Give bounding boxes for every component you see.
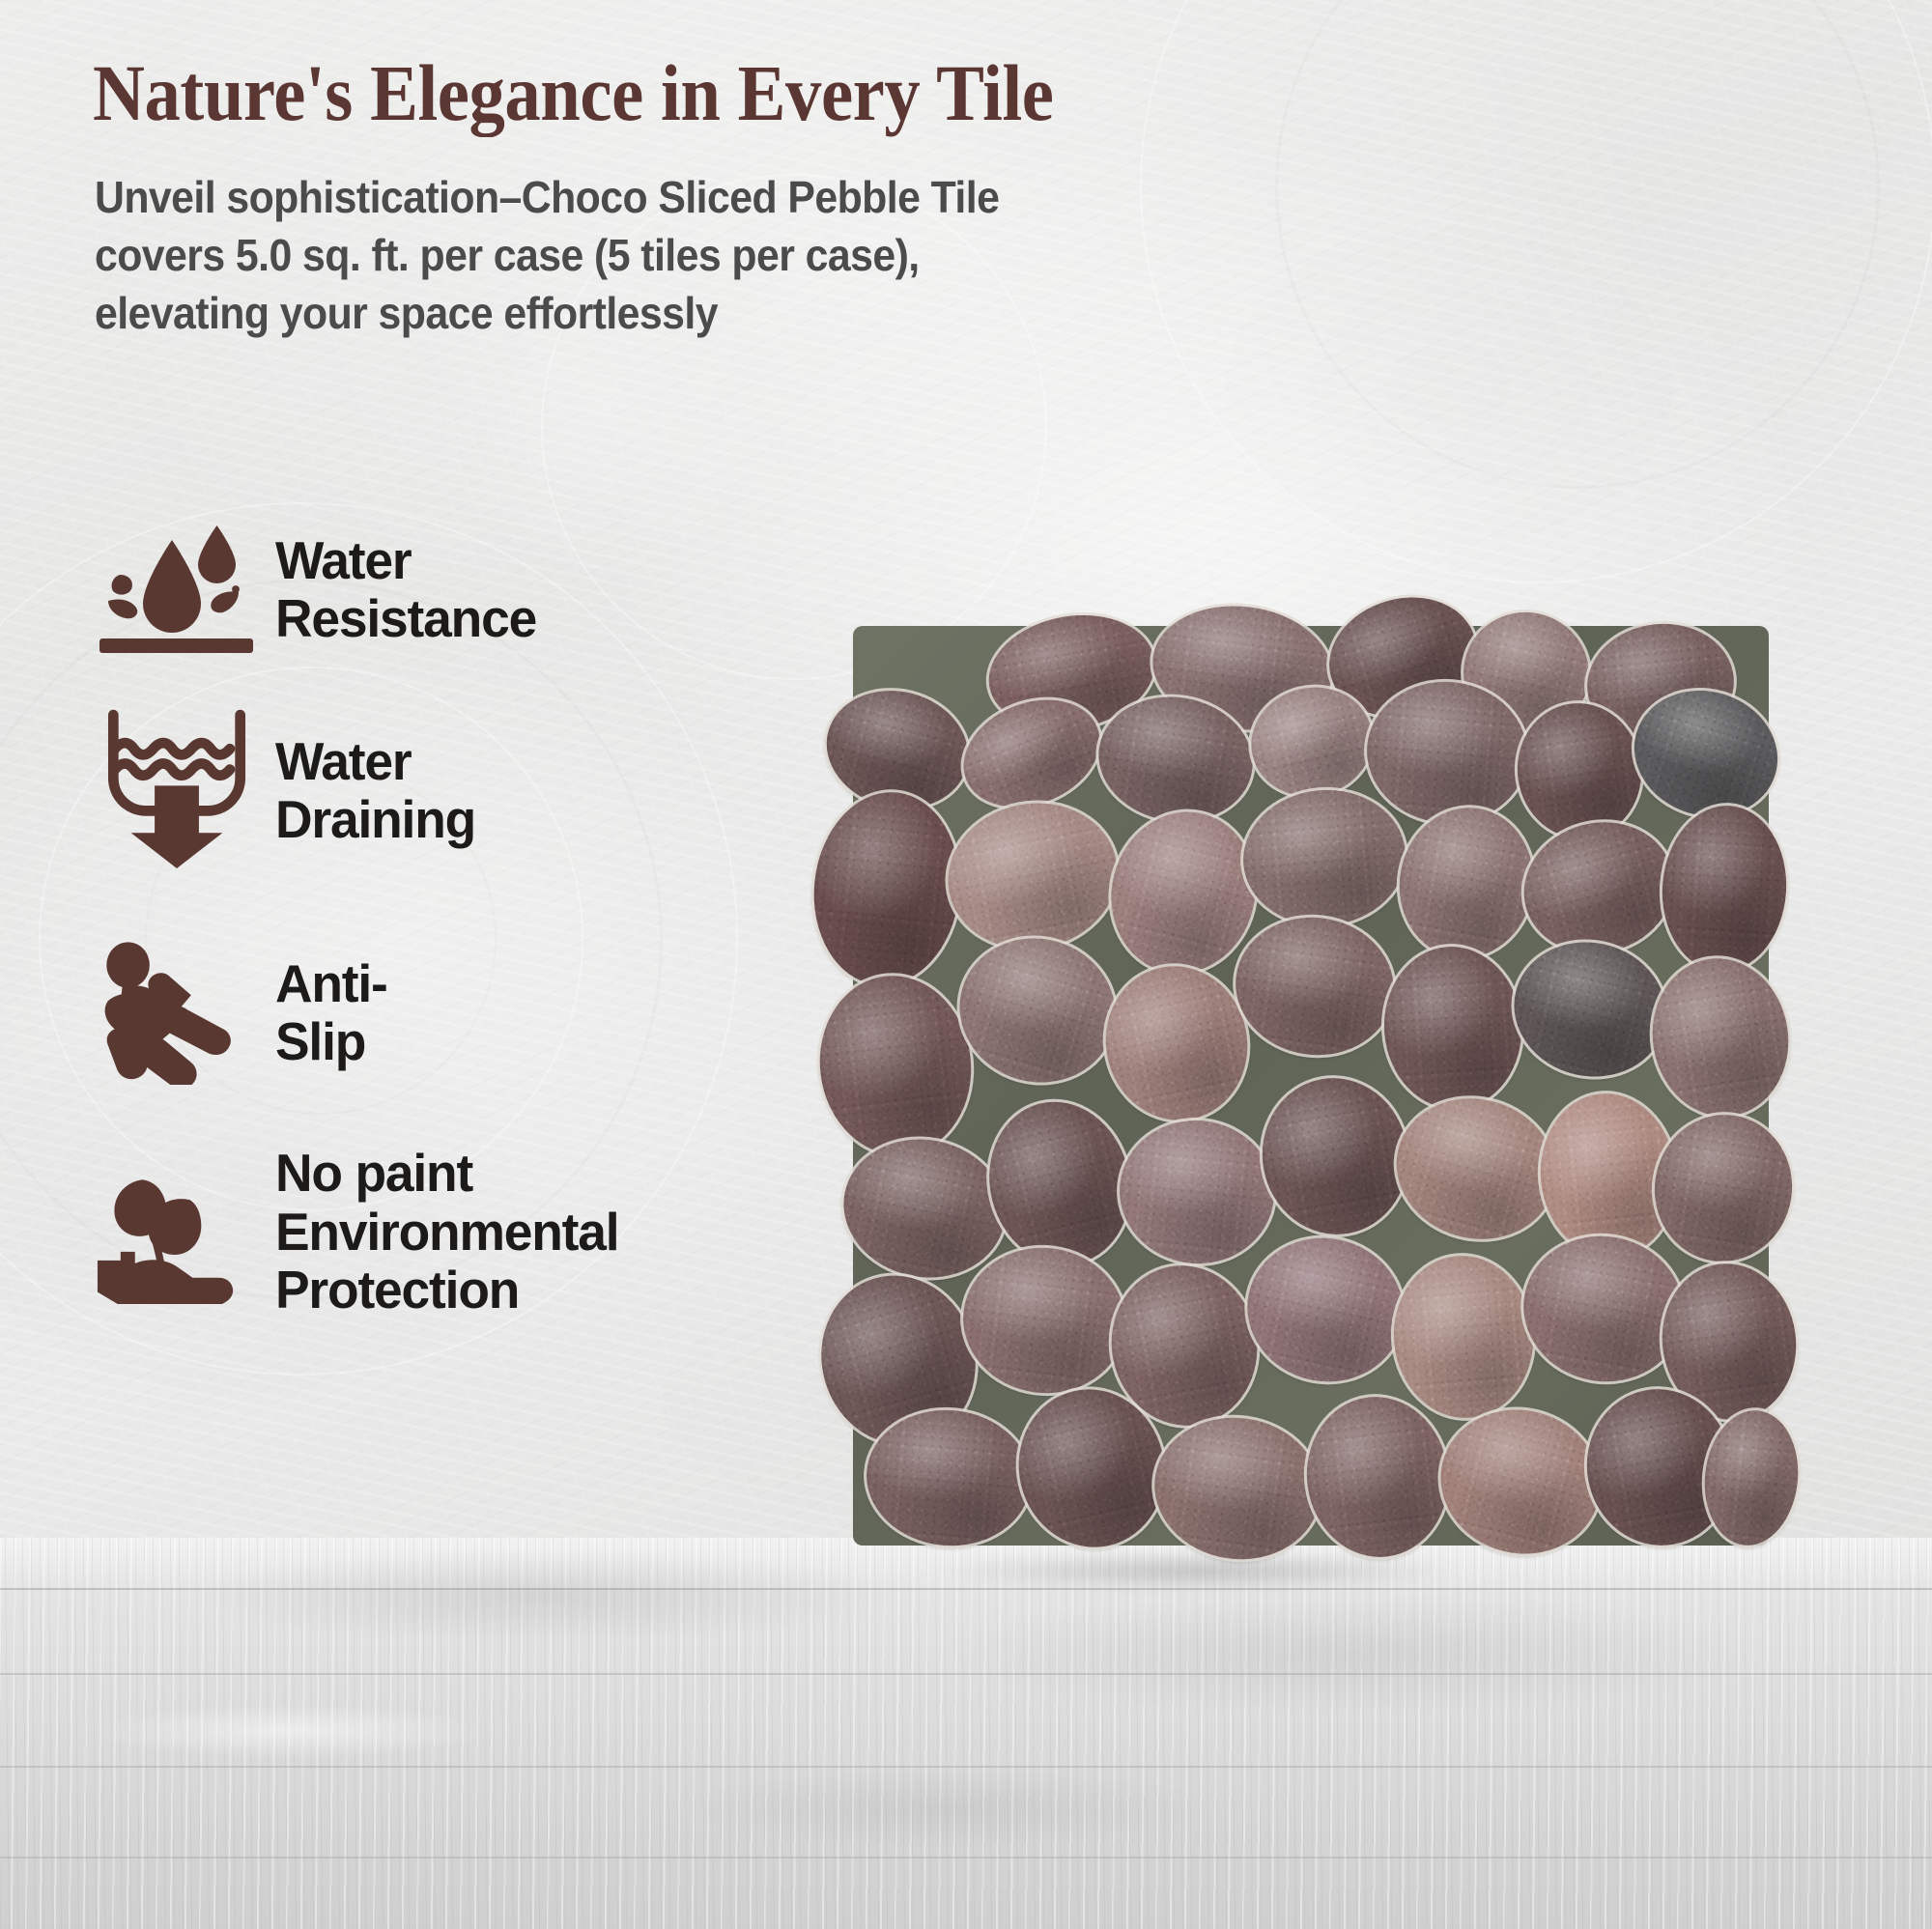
feature-label-water-draining: Water Draining bbox=[275, 732, 475, 849]
pebble-stone bbox=[810, 967, 981, 1164]
pebble-stone bbox=[1227, 907, 1403, 1064]
pebble-stone bbox=[1234, 1224, 1416, 1396]
pebble-stone bbox=[1501, 927, 1680, 1092]
feature-label-environmental-protection: No paint Environmental Protection bbox=[275, 1144, 618, 1319]
page-subtitle: Unveil sophistication–Choco Sliced Pebbl… bbox=[95, 169, 1154, 342]
wall-swirl-arc bbox=[1140, 0, 1932, 583]
feature-label-line: Environmental bbox=[275, 1203, 618, 1262]
feature-label-line: No paint bbox=[275, 1144, 618, 1203]
feature-list: Water Resistance Water Draining bbox=[77, 502, 869, 1343]
water-drop-splash-icon bbox=[77, 517, 275, 662]
product-image-pebble-tile bbox=[826, 599, 1797, 1574]
pebble-stone bbox=[1250, 1066, 1420, 1246]
hand-holding-sprout-icon bbox=[77, 1159, 275, 1304]
pebble-mosaic bbox=[826, 599, 1797, 1574]
falling-person-slip-icon bbox=[77, 940, 275, 1085]
pebble-stone bbox=[1237, 783, 1411, 932]
feature-label-line: Protection bbox=[275, 1261, 618, 1319]
feature-item-water-resistance: Water Resistance bbox=[77, 502, 869, 676]
water-draining-basin-arrow-icon bbox=[77, 709, 275, 871]
wall-swirl-arc bbox=[1275, 0, 1880, 489]
feature-item-water-draining: Water Draining bbox=[77, 676, 869, 904]
pebble-stone bbox=[1641, 949, 1800, 1126]
pebble-stone bbox=[1644, 1105, 1803, 1271]
feature-label-water-resistance: Water Resistance bbox=[275, 531, 536, 648]
feature-label-line: Water bbox=[275, 732, 475, 791]
pebble-stone bbox=[1388, 797, 1546, 969]
subtitle-line-1: Unveil sophistication–Choco Sliced Pebbl… bbox=[95, 169, 1154, 227]
feature-label-anti-slip: Anti- Slip bbox=[275, 954, 387, 1071]
subtitle-line-2: covers 5.0 sq. ft. per case (5 tiles per… bbox=[95, 227, 1154, 285]
pebble-stone bbox=[1378, 942, 1526, 1113]
feature-label-line: Resistance bbox=[275, 589, 536, 648]
wood-plank-floor bbox=[0, 1538, 1932, 1929]
page-title: Nature's Elegance in Every Tile bbox=[93, 52, 1179, 134]
pebble-stone bbox=[1387, 1250, 1540, 1424]
feature-label-line: Draining bbox=[275, 790, 475, 849]
pebble-stone bbox=[1657, 802, 1792, 977]
pebble-stone bbox=[1426, 1393, 1616, 1571]
pebble-stone bbox=[1146, 1407, 1330, 1571]
feature-label-line: Slip bbox=[275, 1012, 387, 1071]
feature-item-anti-slip: Anti- Slip bbox=[77, 904, 869, 1121]
pebble-stone bbox=[1297, 1389, 1457, 1566]
pebble-stone bbox=[954, 1238, 1133, 1402]
feature-item-environmental-protection: No paint Environmental Protection bbox=[77, 1121, 869, 1343]
pebble-stone bbox=[805, 785, 969, 993]
feature-label-line: Anti- bbox=[275, 954, 387, 1013]
subtitle-line-3: elevating your space effortlessly bbox=[95, 285, 1154, 343]
pebble-stone bbox=[1113, 1113, 1282, 1271]
feature-label-line: Water bbox=[275, 531, 536, 590]
